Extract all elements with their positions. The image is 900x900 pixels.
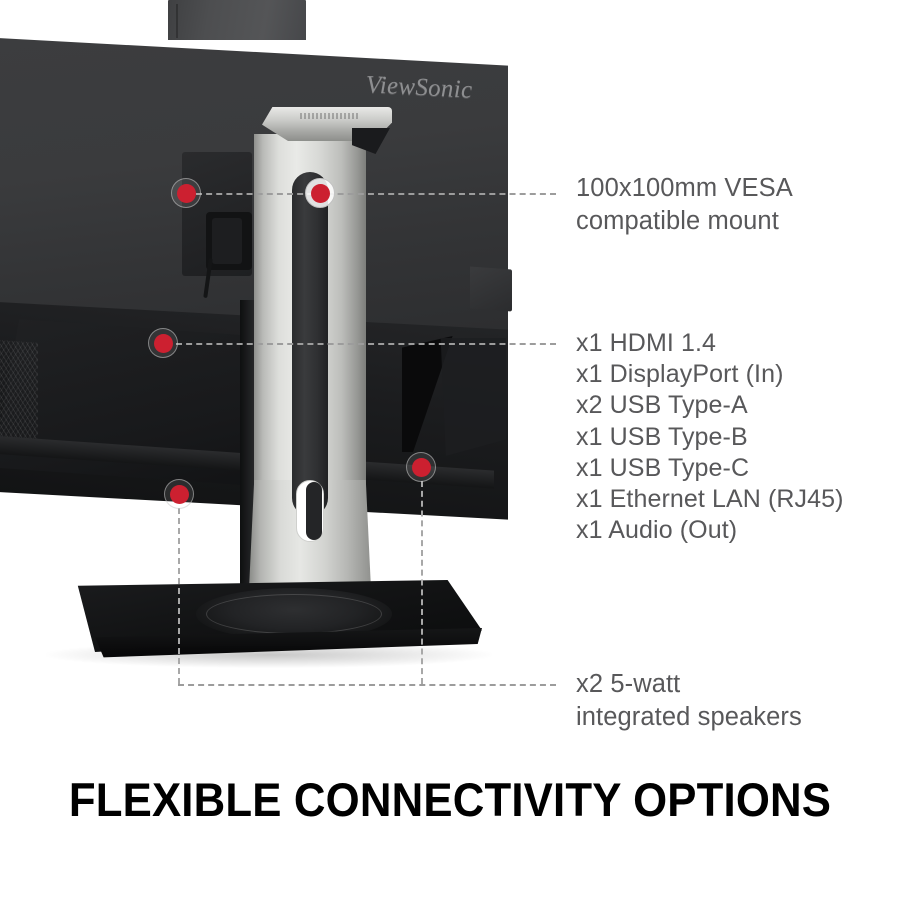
stand-base-swivel-ring	[206, 594, 382, 634]
leader-line-ports	[176, 343, 556, 345]
callout-ports-line-6: x1 Ethernet LAN (RJ45)	[576, 484, 844, 515]
webcam-seam	[176, 4, 178, 38]
callout-ports-line-5: x1 USB Type-C	[576, 453, 844, 484]
viewsonic-logo: ViewSonic	[366, 71, 472, 105]
page-headline: FLEXIBLE CONNECTIVITY OPTIONS	[32, 772, 869, 827]
callout-vesa-line-2: compatible mount	[576, 205, 793, 238]
callout-ports-line-4: x1 USB Type-B	[576, 422, 844, 453]
callout-speakers-line-2: integrated speakers	[576, 701, 802, 734]
callout-ports-line-1: x1 HDMI 1.4	[576, 328, 844, 359]
stand-handle-marking	[300, 113, 360, 119]
marker-speaker-right[interactable]	[406, 452, 436, 482]
marker-port-cluster[interactable]	[148, 328, 178, 358]
marker-vesa-mount-hole-right[interactable]	[305, 178, 335, 208]
callout-vesa: 100x100mm VESA compatible mount	[576, 172, 793, 238]
callout-speakers-line-1: x2 5-watt	[576, 668, 802, 701]
infographic-page: ViewSonic 100x100mm VESA compatible moun…	[0, 0, 900, 900]
stand-hinge-inner	[212, 218, 242, 264]
leader-line-speaker-right-vertical	[421, 481, 423, 684]
callout-speakers: x2 5-watt integrated speakers	[576, 668, 802, 734]
callout-ports-line-2: x1 DisplayPort (In)	[576, 359, 844, 390]
product-photo: ViewSonic	[0, 0, 560, 760]
callout-ports: x1 HDMI 1.4 x1 DisplayPort (In) x2 USB T…	[576, 328, 844, 546]
stand-cable-channel-opening-inner	[306, 482, 322, 540]
leader-line-speakers	[178, 684, 556, 686]
leader-line-speaker-left-vertical	[178, 508, 180, 684]
leader-line-vesa	[196, 193, 556, 195]
chassis-side-tab	[470, 267, 512, 312]
stand-base-shadow	[46, 646, 492, 668]
marker-vesa-mount-hole-left[interactable]	[171, 178, 201, 208]
callout-ports-line-7: x1 Audio (Out)	[576, 515, 844, 546]
callout-ports-line-3: x2 USB Type-A	[576, 390, 844, 421]
marker-speaker-left[interactable]	[164, 479, 194, 509]
callout-vesa-line-1: 100x100mm VESA	[576, 172, 793, 205]
webcam-module	[168, 0, 306, 40]
